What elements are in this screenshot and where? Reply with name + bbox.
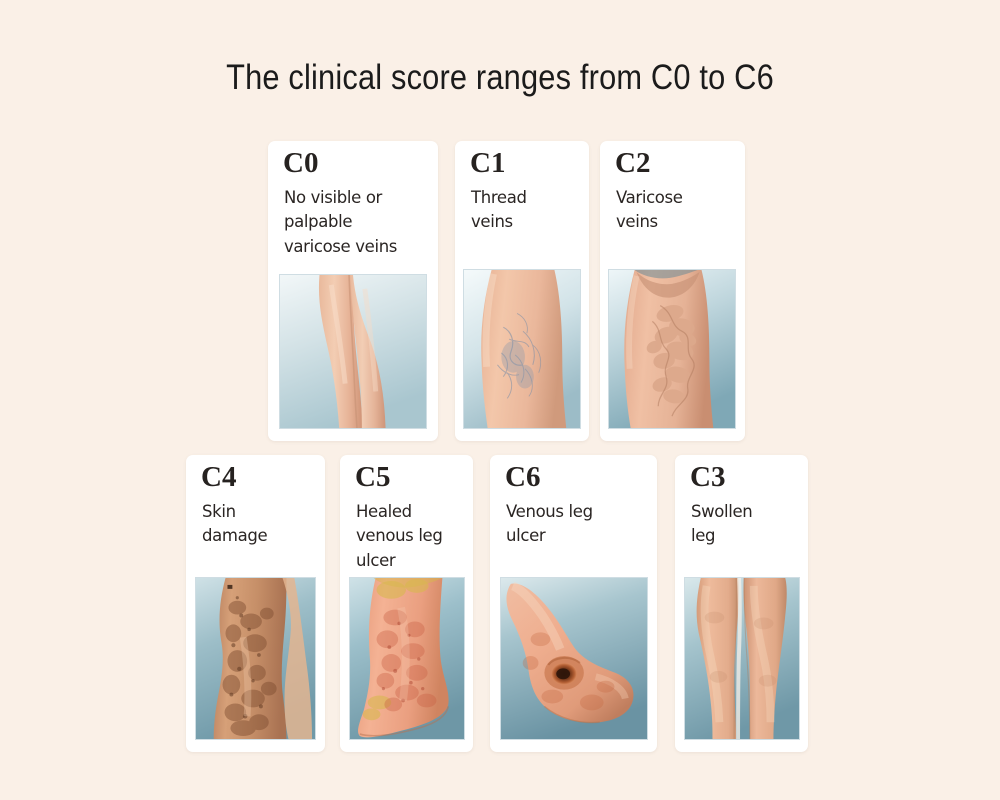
card-code-c5: C5 bbox=[355, 463, 390, 492]
venous-ulcer-photo bbox=[500, 577, 648, 740]
swollen-legs-photo bbox=[684, 577, 800, 740]
card-code-c0: C0 bbox=[283, 149, 318, 178]
card-description-c3: Swollen leg bbox=[691, 500, 808, 549]
card-description-c1: Thread veins bbox=[471, 186, 589, 235]
card-description-c5: Healed venous leg ulcer bbox=[356, 500, 473, 573]
venous-ulcer-illustration bbox=[501, 578, 647, 739]
card-c2[interactable]: C2 Varicose veins bbox=[600, 141, 745, 441]
healed-ulcer-photo bbox=[349, 577, 465, 740]
skin-damage-photo bbox=[195, 577, 316, 740]
card-code-c2: C2 bbox=[615, 149, 650, 178]
card-description-c2: Varicose veins bbox=[616, 186, 744, 235]
page-title: The clinical score ranges from C0 to C6 bbox=[60, 58, 940, 98]
card-description-c6: Venous leg ulcer bbox=[506, 500, 657, 549]
card-code-c4: C4 bbox=[201, 463, 236, 492]
card-c3[interactable]: C3 Swollen leg bbox=[675, 455, 808, 752]
card-code-c1: C1 bbox=[470, 149, 505, 178]
card-code-c3: C3 bbox=[690, 463, 725, 492]
healed-ulcer-illustration bbox=[350, 578, 464, 739]
infographic-page: The clinical score ranges from C0 to C6 … bbox=[0, 0, 1000, 800]
varicose-veins-illustration bbox=[609, 270, 735, 428]
card-code-c6: C6 bbox=[505, 463, 540, 492]
card-description-c0: No visible or palpable varicose veins bbox=[284, 186, 434, 259]
normal-legs-photo bbox=[279, 274, 427, 429]
card-c0[interactable]: C0 No visible or palpable varicose veins bbox=[268, 141, 438, 441]
varicose-veins-photo bbox=[608, 269, 736, 429]
card-c5[interactable]: C5 Healed venous leg ulcer bbox=[340, 455, 473, 752]
thread-veins-illustration bbox=[464, 270, 580, 428]
thread-veins-photo bbox=[463, 269, 581, 429]
normal-legs-illustration bbox=[280, 275, 426, 428]
card-c1[interactable]: C1 Thread veins bbox=[455, 141, 589, 441]
swollen-legs-illustration bbox=[685, 578, 799, 739]
skin-damage-illustration bbox=[196, 578, 315, 739]
card-c4[interactable]: C4 Skin damage bbox=[186, 455, 325, 752]
card-c6[interactable]: C6 Venous leg ulcer bbox=[490, 455, 657, 752]
card-description-c4: Skin damage bbox=[202, 500, 324, 549]
